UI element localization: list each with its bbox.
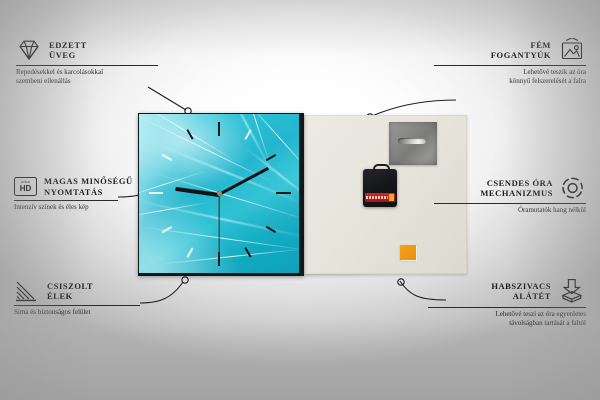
- callout-divider: [428, 307, 586, 308]
- callout-polished-edges: CSISZOLT ÉLEK Sima és biztonságos felüle…: [14, 280, 164, 317]
- battery-label: [366, 196, 388, 199]
- callout-title-line2: MECHANIZMUS: [480, 188, 553, 199]
- callout-divider: [434, 65, 586, 66]
- callout-desc-line1: Repedésekkel és karcolásokkal: [16, 68, 166, 77]
- clock-second-hand: [218, 194, 219, 256]
- callout-divider: [14, 305, 140, 306]
- clock-hour-hand: [175, 186, 219, 196]
- callout-title-line2: ÜVEG: [49, 50, 87, 61]
- callout-desc-line1: Lehetővé teszi az óra egyenletes: [428, 310, 586, 319]
- callout-foam-pad: HABSZIVACS ALÁTÉT Lehetővé teszi az óra …: [428, 278, 586, 328]
- callout-title-line2: FOGANTYÚK: [491, 50, 551, 61]
- silent-clock-mechanism: [363, 169, 397, 207]
- callout-title-line1: EDZETT: [49, 40, 87, 51]
- callout-title-line1: CSENDES ÓRA: [480, 178, 553, 189]
- product-assembly: [138, 113, 468, 278]
- callout-divider: [16, 65, 158, 66]
- callout-desc-line2: szembeni ellenállás: [16, 77, 166, 86]
- callout-title-line2: ALÁTÉT: [491, 291, 551, 302]
- picture-hanger-icon: [558, 38, 586, 62]
- arrow-onto-pad-icon: [558, 278, 586, 304]
- infographic-canvas: EDZETT ÜVEG Repedésekkel és karcolásokka…: [0, 0, 600, 400]
- callout-desc-line1: Lehetővé teszik az óra: [434, 68, 586, 77]
- connector-tempered-glass: [148, 87, 186, 110]
- callout-title-line2: ÉLEK: [47, 291, 93, 302]
- gear-icon: [560, 176, 586, 200]
- callout-desc-line2: távolságban tartását a faltól: [428, 319, 586, 328]
- clock-center-cap: [217, 191, 222, 196]
- callout-divider: [434, 203, 586, 204]
- callout-metal-handles: FÉM FOGANTYÚK Lehetővé teszik az óra kön…: [434, 38, 586, 86]
- callout-tempered-glass: EDZETT ÜVEG Repedésekkel és karcolásokka…: [16, 38, 166, 86]
- callout-title-line1: CSISZOLT: [47, 281, 93, 292]
- metal-hanger-plate: [389, 122, 437, 165]
- diagonal-lines-icon: [14, 280, 40, 302]
- hanger-slot: [398, 138, 426, 144]
- callout-desc-line2: könnyű felszerelését a falra: [434, 77, 586, 86]
- ultra-hd-icon-large-text: HD: [20, 185, 32, 193]
- callout-desc-line1: Intenzív színek és éles kép: [14, 203, 164, 212]
- ultra-hd-icon: ultra HD: [14, 177, 37, 196]
- callout-silent-mechanism: CSENDES ÓRA MECHANIZMUS Óramutatók hang …: [434, 176, 586, 215]
- callout-desc-line1: Sima és biztonságos felület: [14, 308, 164, 317]
- callout-title-line1: MAGAS MINŐSÉGŰ: [44, 176, 133, 187]
- foam-spacer-pad: [400, 245, 416, 260]
- callout-high-quality-print: ultra HD MAGAS MINŐSÉGŰ NYOMTATÁS Intenz…: [14, 176, 164, 212]
- callout-title-line1: FÉM: [491, 40, 551, 51]
- diamond-icon: [16, 38, 42, 62]
- callout-title-line2: NYOMTATÁS: [44, 187, 133, 198]
- callout-desc-line1: Óramutatók hang nélkül: [434, 206, 586, 215]
- mechanism-hook: [373, 164, 390, 174]
- callout-title-line1: HABSZIVACS: [491, 281, 551, 292]
- callout-divider: [14, 200, 118, 201]
